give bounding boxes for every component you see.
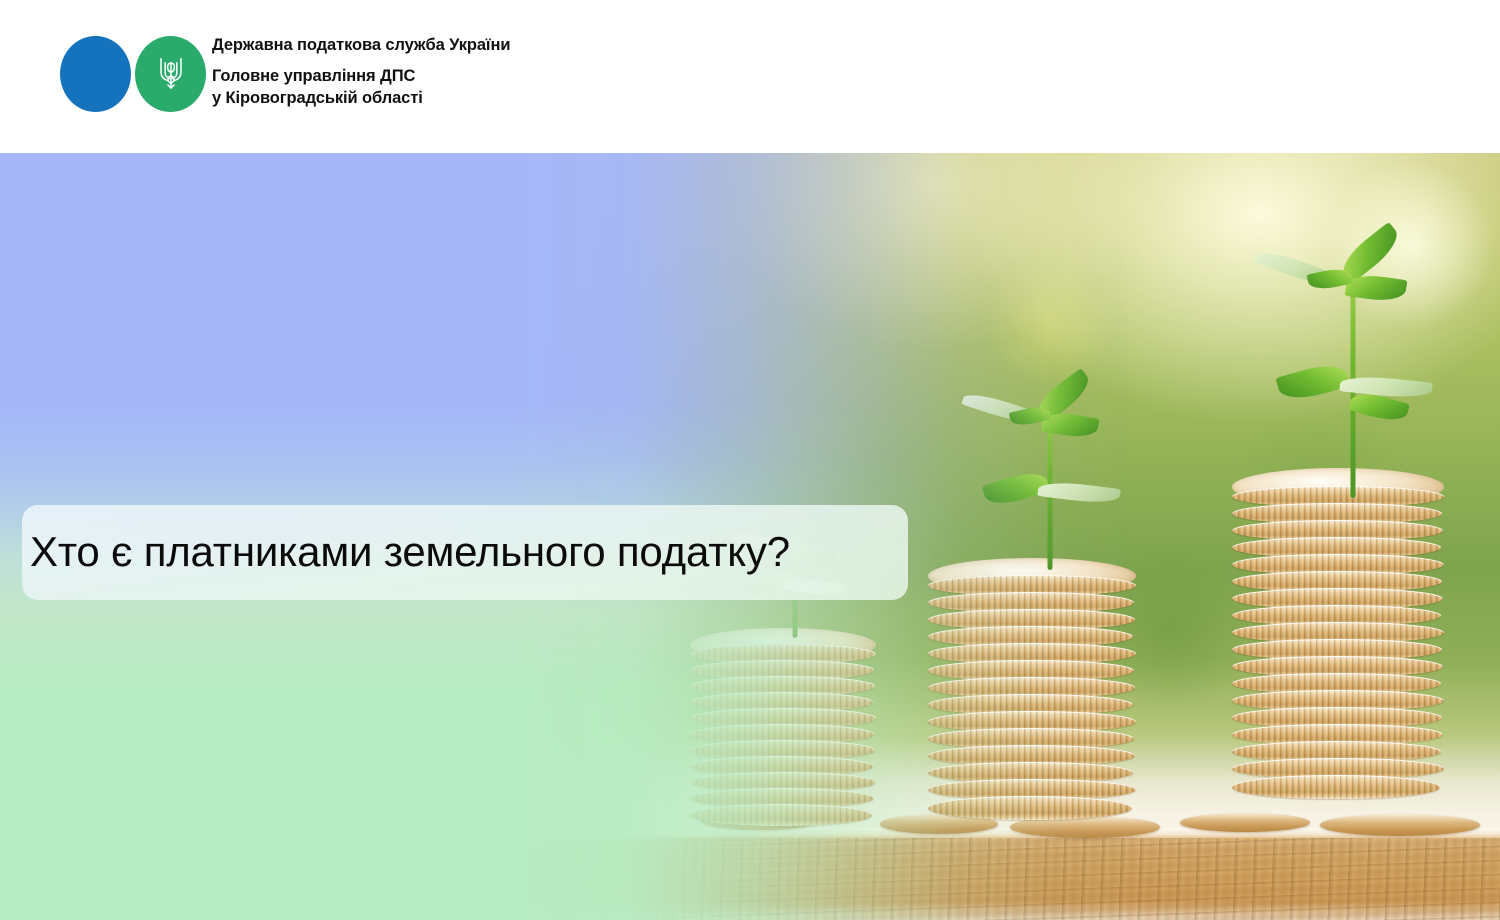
dps-logo: [60, 36, 206, 112]
logo-green-circle-icon: [135, 36, 206, 112]
header-band: Державна податкова служба України Головн…: [0, 0, 1500, 153]
ukrainian-trident-icon: [158, 57, 184, 91]
hero-section: Хто є платниками земельного податку?: [0, 153, 1500, 920]
agency-name: Державна податкова служба України: [212, 36, 912, 54]
poster-canvas: Державна податкова служба України Головн…: [0, 0, 1500, 920]
title-panel: Хто є платниками земельного податку?: [22, 505, 908, 600]
department-name-line-2: у Кіровоградській області: [212, 87, 912, 109]
department-name-line-1: Головне управління ДПС: [212, 65, 912, 87]
page-title: Хто є платниками земельного податку?: [22, 530, 800, 574]
logo-blue-circle-icon: [60, 36, 131, 112]
header-title-block: Державна податкова служба України Головн…: [212, 36, 912, 110]
